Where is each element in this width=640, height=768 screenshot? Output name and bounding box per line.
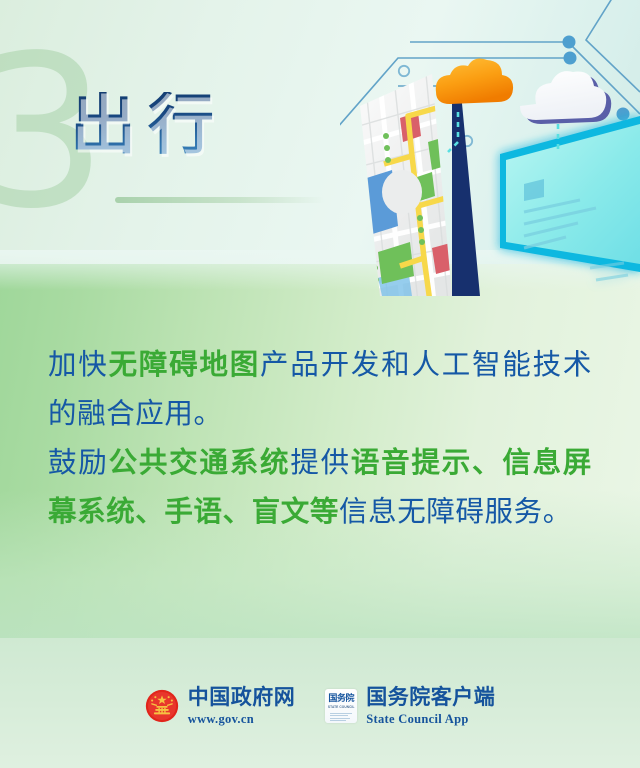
title-underline-rule [115,197,325,203]
paragraph-1: 加快无障碍地图产品开发和人工智能技术的融合应用。 [48,340,592,438]
white-cloud-icon [520,71,611,124]
gov-cn-url: www.gov.cn [188,713,296,726]
national-emblem-icon [145,689,179,723]
paragraph-2-seg-1: 公共交通系统 [109,446,291,479]
footer: 中国政府网 www.gov.cn 国务院 STATE COUNCIL 国务院客户… [0,676,640,736]
state-council-logo-text: 国务院客户端 State Council App [366,687,495,726]
state-council-name-en: State Council App [366,713,495,726]
state-council-badge-lines [330,711,352,721]
paragraph-1-seg-0: 加快 [48,348,109,381]
body-copy: 加快无障碍地图产品开发和人工智能技术的融合应用。 鼓励公共交通系统提供语音提示、… [48,340,592,536]
orange-cloud-icon [436,58,513,104]
paragraph-2-seg-4: 信息无障碍服务。 [339,495,572,528]
cyan-screen-icon [500,116,640,280]
paragraph-2-seg-2: 提供 [290,446,351,479]
state-council-badge-icon: 国务院 STATE COUNCIL [325,689,357,723]
page-title: 出行 [70,92,226,158]
gov-cn-name: 中国政府网 [188,687,296,708]
gov-cn-logo-text: 中国政府网 www.gov.cn [188,687,296,726]
state-council-badge-cn: 国务院 [328,691,354,704]
poster-canvas: 3 出行 [0,0,640,768]
state-council-app-logo[interactable]: 国务院 STATE COUNCIL 国务院客户端 State Council A… [325,687,495,726]
state-council-name-cn: 国务院客户端 [366,687,495,708]
paragraph-1-seg-1: 无障碍地图 [109,348,260,381]
gov-cn-logo[interactable]: 中国政府网 www.gov.cn [145,687,296,726]
state-council-badge-en: STATE COUNCIL [328,705,355,709]
map-panel-icon [352,72,480,296]
header-illustration [340,0,640,296]
paragraph-2: 鼓励公共交通系统提供语音提示、信息屏幕系统、手语、盲文等信息无障碍服务。 [48,438,592,536]
paragraph-2-seg-0: 鼓励 [48,446,109,479]
